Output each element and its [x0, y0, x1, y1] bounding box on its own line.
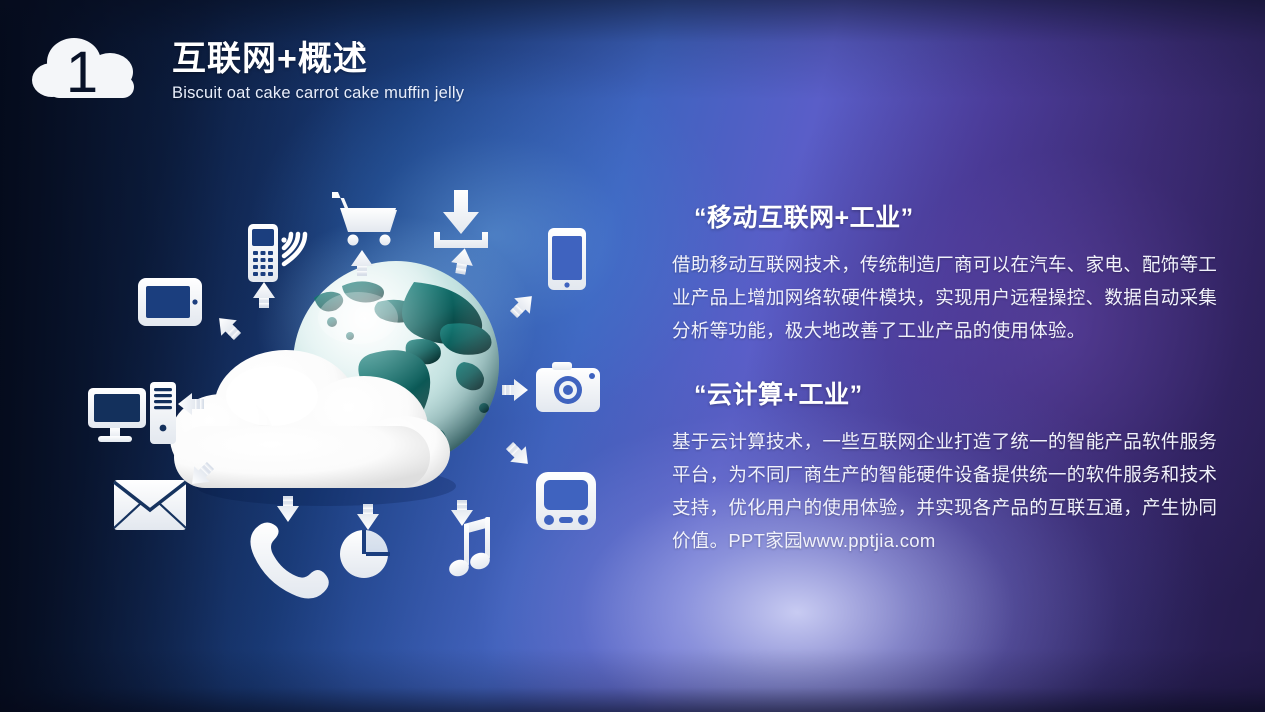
slide-canvas: 1 互联网+概述 Biscuit oat cake carrot cake mu…: [0, 0, 1265, 712]
camera-icon: [536, 362, 600, 412]
cloud-number-badge: 1: [30, 36, 146, 102]
smartphone-icon: [548, 228, 586, 290]
page-subtitle: Biscuit oat cake carrot cake muffin jell…: [172, 84, 464, 103]
page-title: 互联网+概述: [172, 40, 464, 78]
section-body: 借助移动互联网技术，传统制造厂商可以在汽车、家电、配饰等工业产品上增加网络软硬件…: [672, 248, 1232, 347]
server-tower-icon: [150, 382, 176, 444]
arrow-down-music: [451, 500, 473, 526]
content-section: “移动互联网+工业” 借助移动互联网技术，传统制造厂商可以在汽车、家电、配饰等工…: [672, 198, 1232, 347]
envelope-icon: [114, 480, 186, 530]
tablet-icon: [138, 278, 202, 326]
slide-header: 1 互联网+概述 Biscuit oat cake carrot cake mu…: [30, 34, 464, 103]
cloud-icon: 1: [30, 36, 146, 102]
arrow-down-pie: [357, 504, 379, 530]
game-console-icon: [536, 472, 596, 530]
telephone-icon: [250, 522, 328, 598]
section-heading: “云计算+工业”: [694, 375, 1232, 411]
music-note-icon: [447, 517, 492, 579]
cloud-computing-illustration: [96, 176, 656, 606]
section-body: 基于云计算技术，一些互联网企业打造了统一的智能产品软件服务平台，为不同厂商生产的…: [672, 425, 1232, 557]
desktop-computer-icon: [88, 388, 146, 442]
content-column: “移动互联网+工业” 借助移动互联网技术，传统制造厂商可以在汽车、家电、配饰等工…: [672, 198, 1232, 557]
content-section: “云计算+工业” 基于云计算技术，一些互联网企业打造了统一的智能产品软件服务平台…: [672, 375, 1232, 557]
arrow-up-left: [211, 310, 245, 344]
pie-chart-icon: [340, 530, 390, 578]
title-block: 互联网+概述 Biscuit oat cake carrot cake muff…: [172, 34, 464, 103]
arrow-down-right-console: [502, 438, 536, 472]
section-heading: “移动互联网+工业”: [694, 198, 1232, 234]
mobile-phone-icon: [248, 224, 278, 282]
